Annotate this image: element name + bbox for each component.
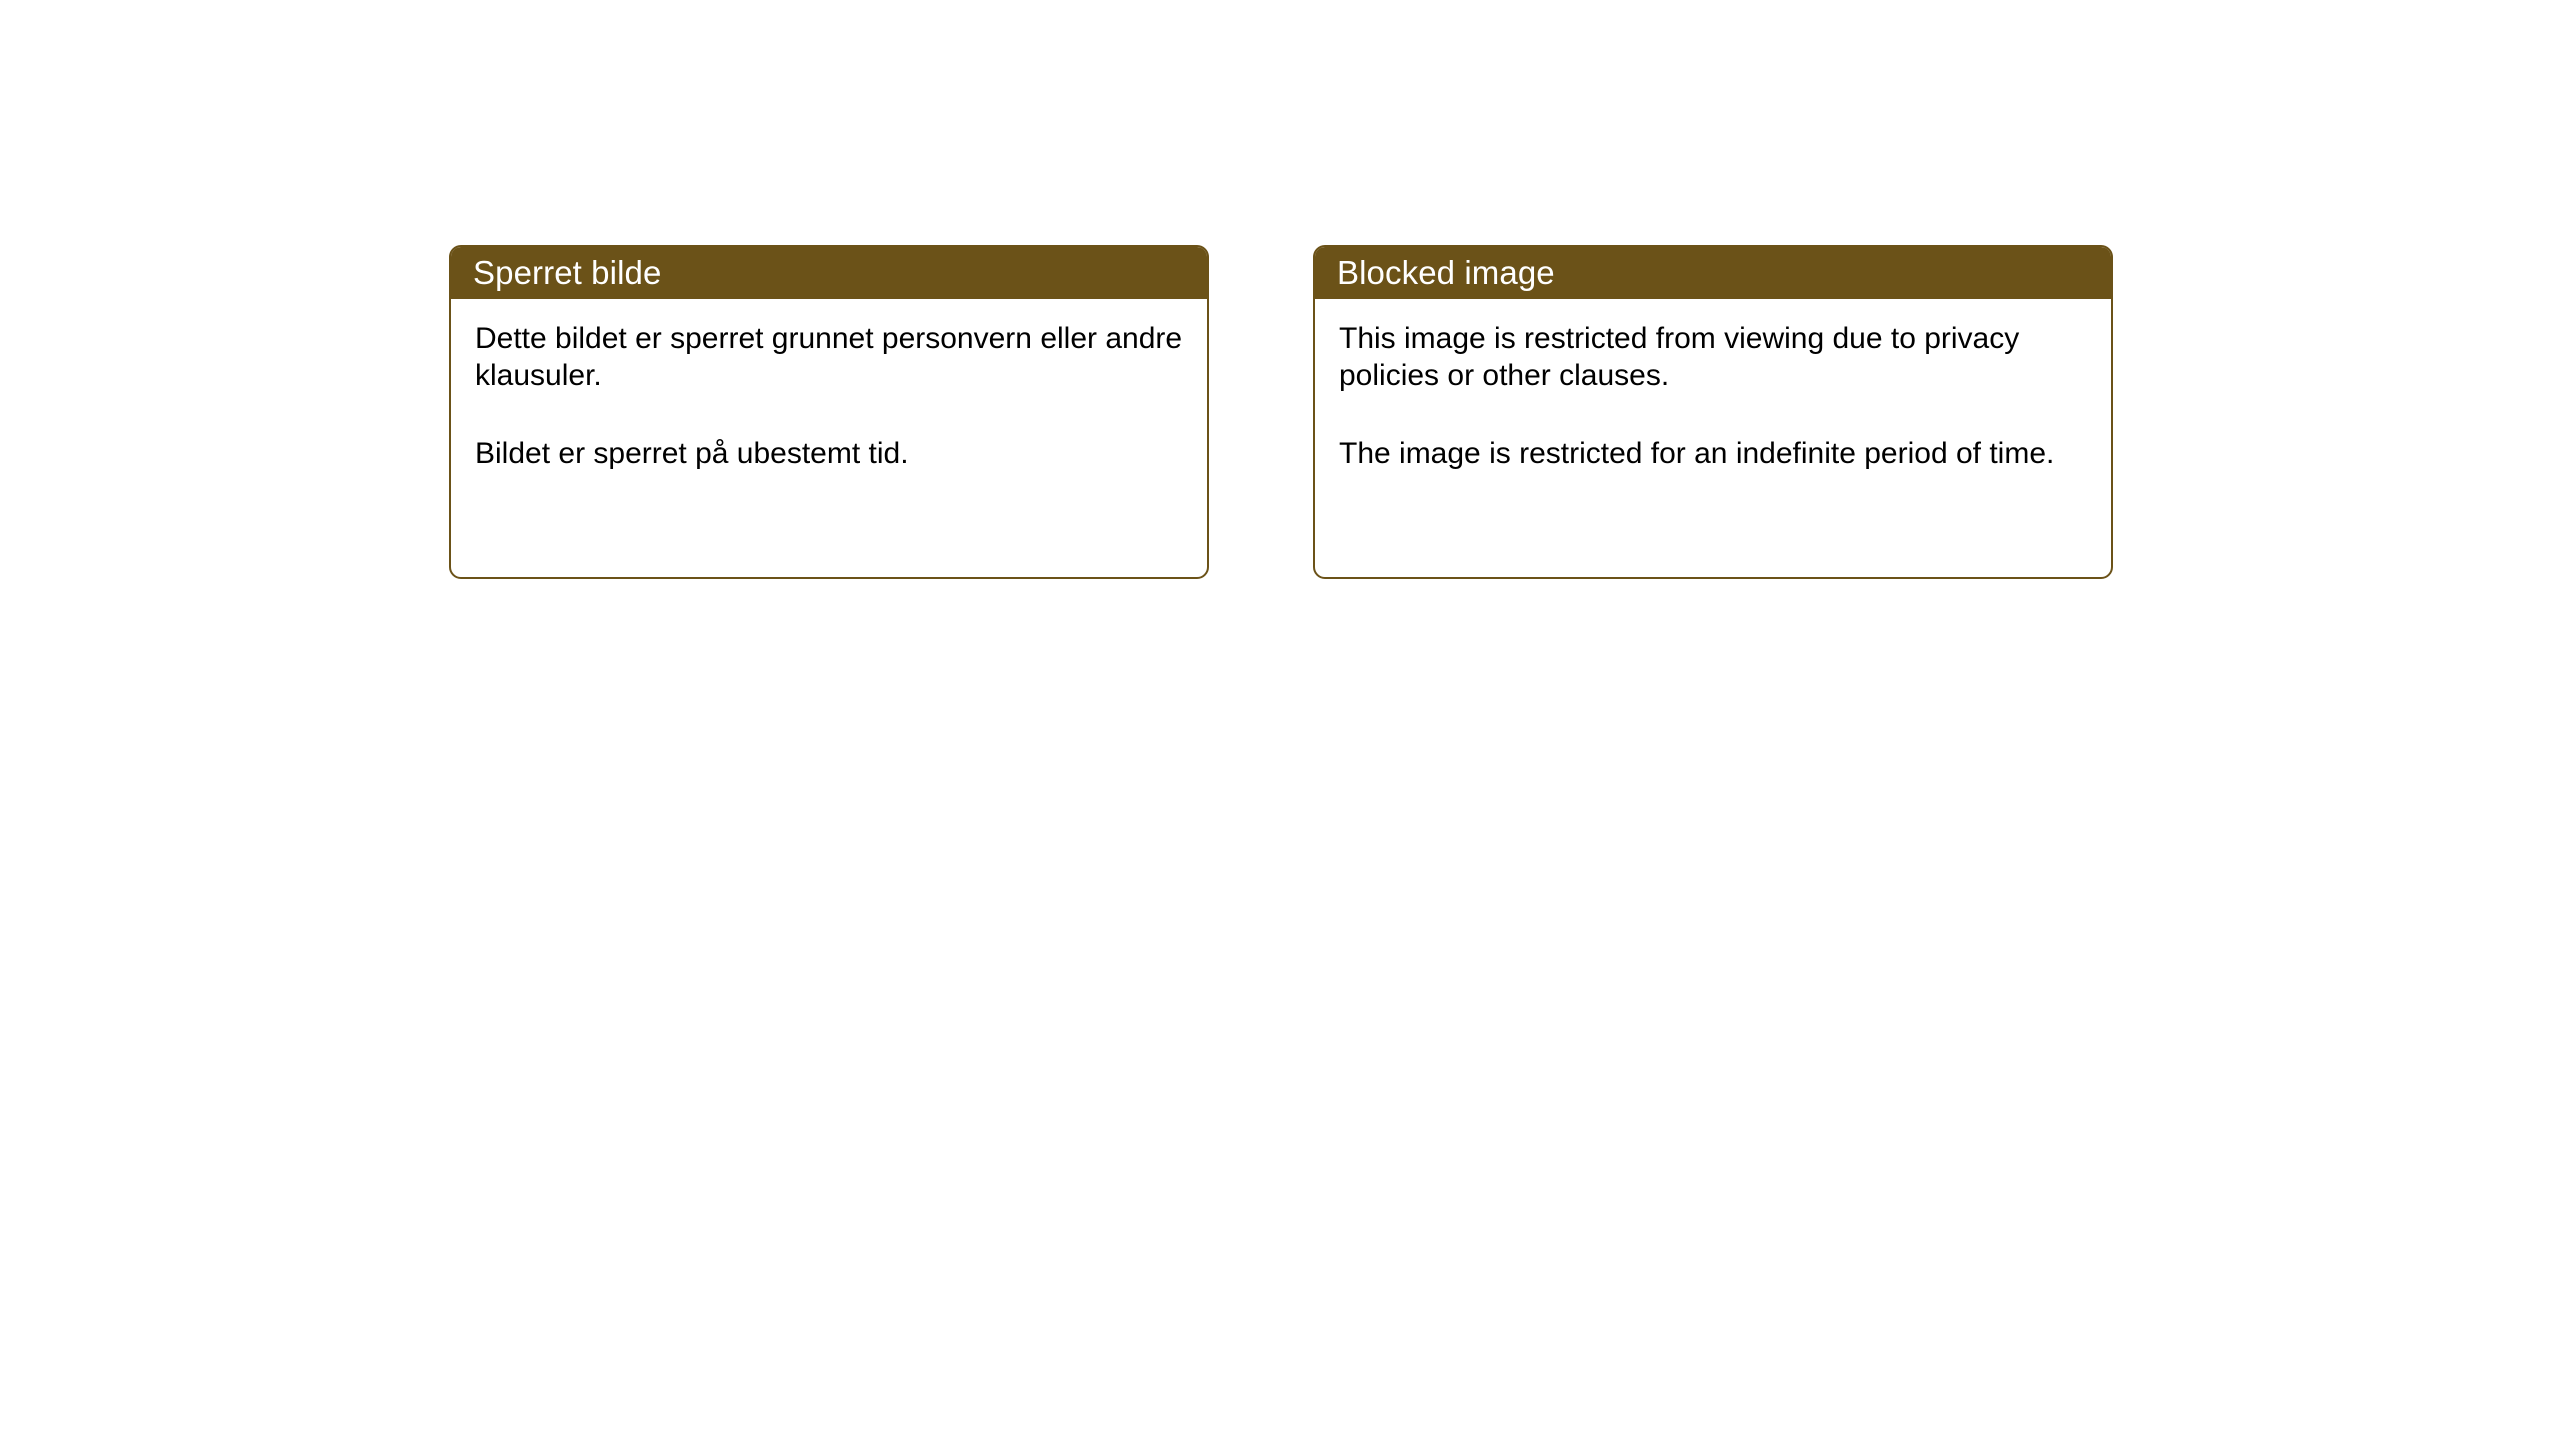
blocked-image-notice-norwegian: Sperret bilde Dette bildet er sperret gr… bbox=[449, 245, 1209, 579]
notice-paragraph: Bildet er sperret på ubestemt tid. bbox=[475, 436, 1187, 473]
notice-title-norwegian: Sperret bilde bbox=[473, 256, 661, 289]
notice-paragraph: Dette bildet er sperret grunnet personve… bbox=[475, 321, 1187, 395]
notice-paragraph: This image is restricted from viewing du… bbox=[1339, 321, 2091, 395]
notice-paragraph: The image is restricted for an indefinit… bbox=[1339, 436, 2091, 473]
page-canvas: Sperret bilde Dette bildet er sperret gr… bbox=[0, 0, 2560, 1440]
blocked-image-notice-english: Blocked image This image is restricted f… bbox=[1313, 245, 2113, 579]
notice-body-english: This image is restricted from viewing du… bbox=[1315, 299, 2111, 473]
notice-header-english: Blocked image bbox=[1313, 245, 2113, 299]
notice-title-english: Blocked image bbox=[1337, 256, 1555, 289]
notice-header-norwegian: Sperret bilde bbox=[449, 245, 1209, 299]
notice-body-norwegian: Dette bildet er sperret grunnet personve… bbox=[451, 299, 1207, 473]
